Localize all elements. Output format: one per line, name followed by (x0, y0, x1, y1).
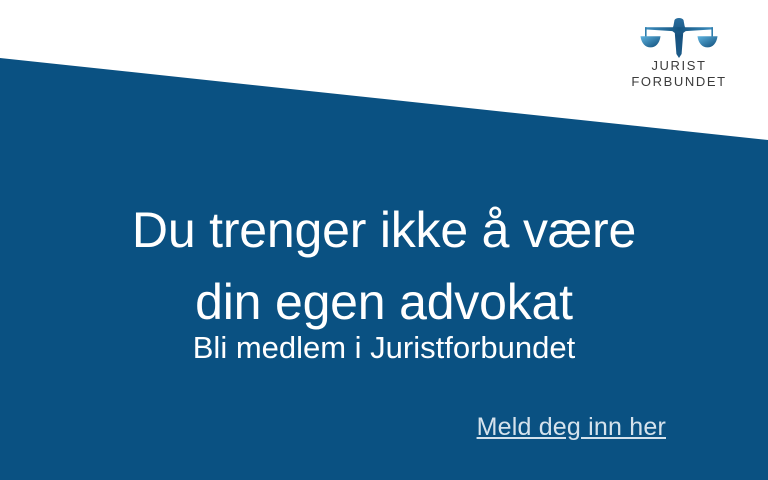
logo-word-jurist: JURIST (624, 58, 734, 74)
logo-word-forbundet: FORBUNDET (624, 74, 734, 90)
page-title: Du trenger ikke å være din egen advokat (0, 194, 768, 338)
juristforbundet-logo[interactable]: JURIST FORBUNDET (624, 14, 734, 90)
scales-of-justice-icon (640, 14, 718, 58)
signup-link[interactable]: Meld deg inn her (477, 410, 666, 444)
headline-line-1: Du trenger ikke å være (0, 194, 768, 266)
advertisement-banner[interactable]: JURIST FORBUNDET Du trenger ikke å være … (0, 0, 768, 480)
subtitle: Bli medlem i Juristforbundet (0, 327, 768, 369)
